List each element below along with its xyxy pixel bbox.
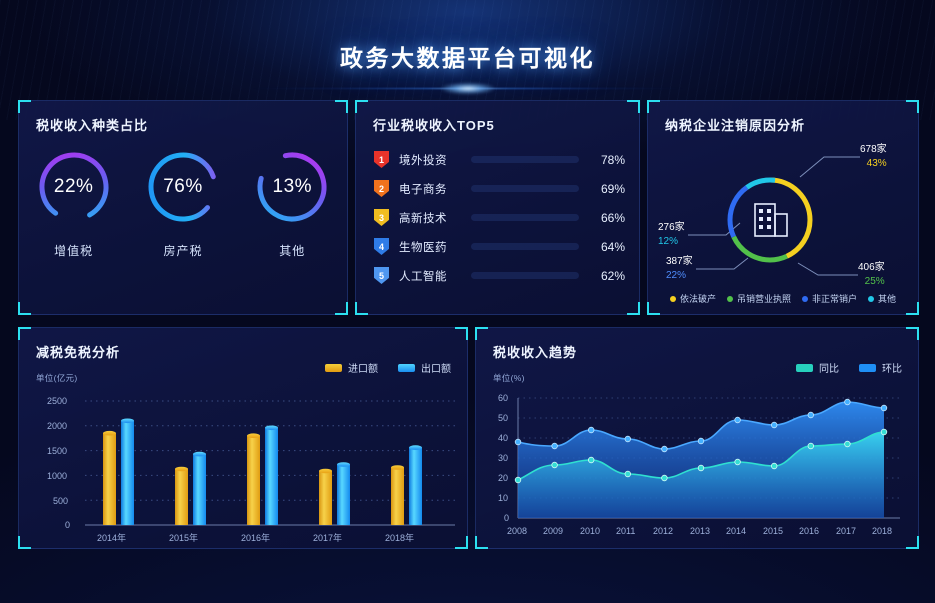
gauge-row: 22% 增值税 76% 房产税 xyxy=(19,149,347,259)
corner-bracket-tl xyxy=(355,100,368,113)
corner-bracket-tr xyxy=(335,100,348,113)
corner-bracket-tr xyxy=(627,100,640,113)
legend-dot-icon xyxy=(727,296,733,302)
page-title: 政务大数据平台可视化 xyxy=(340,39,595,73)
y-tick-label: 30 xyxy=(498,453,508,463)
y-tick-label: 0 xyxy=(65,520,70,530)
x-tick-label: 2010 xyxy=(580,526,600,536)
rank-bar-track xyxy=(471,272,579,279)
x-tick-label: 2015 xyxy=(763,526,783,536)
donut-callout-percent: 22% xyxy=(666,269,728,283)
rank-percent: 62% xyxy=(591,269,625,283)
rank-percent: 78% xyxy=(591,153,625,167)
donut-callout-percent: 12% xyxy=(658,235,720,249)
legend-dot-icon xyxy=(868,296,874,302)
y-tick-label: 2000 xyxy=(47,421,67,431)
x-tick-label: 2009 xyxy=(543,526,563,536)
y-tick-label: 20 xyxy=(498,473,508,483)
donut-callout-percent: 25% xyxy=(858,275,885,289)
gauge-item[interactable]: 76% 房产税 xyxy=(135,149,231,259)
legend-item[interactable]: 依法破产 xyxy=(670,292,716,305)
rank-bar-track xyxy=(471,156,579,163)
donut-callout-2: 406家 25% xyxy=(858,261,885,288)
donut-callout-count: 276家 xyxy=(658,222,685,233)
dashboard-header: 政务大数据平台可视化 xyxy=(0,0,935,96)
donut-legend: 依法破产 吊销营业执照 非正常销户 其他 xyxy=(648,292,918,305)
x-tick-label: 2008 xyxy=(507,526,527,536)
gauge-item[interactable]: 22% 增值税 xyxy=(26,149,122,259)
donut-callout-count: 678家 xyxy=(860,144,887,155)
gauge-value: 76% xyxy=(145,149,221,225)
gauge-label: 增值税 xyxy=(26,242,122,259)
gauge-ring: 13% xyxy=(254,149,330,225)
rank-percent: 66% xyxy=(591,211,625,225)
panel-title-tax-share: 税收收入种类占比 xyxy=(36,115,148,134)
gauge-value: 13% xyxy=(254,149,330,225)
x-tick-label: 2011 xyxy=(616,526,635,536)
x-tick-label: 2012 xyxy=(653,526,673,536)
gauge-label: 其他 xyxy=(244,242,340,259)
rank-badge-icon: 1 xyxy=(374,151,389,168)
corner-bracket-bl xyxy=(355,302,368,315)
gauge-ring: 22% xyxy=(36,149,112,225)
x-tick-label: 2015年 xyxy=(169,531,198,544)
rank-badge-icon: 5 xyxy=(374,267,389,284)
building-icon xyxy=(755,204,787,236)
gauge-value: 22% xyxy=(36,149,112,225)
corner-bracket-bl xyxy=(18,302,31,315)
donut-callout-count: 406家 xyxy=(858,262,885,273)
rank-name: 生物医药 xyxy=(399,239,467,255)
corner-bracket-br xyxy=(335,302,348,315)
legend-dot-icon xyxy=(670,296,676,302)
gauge-label: 房产税 xyxy=(135,242,231,259)
rank-percent: 64% xyxy=(591,240,625,254)
donut-chart: 678家 43% 276家 12% 387家 22% 406家 25% 依法破产… xyxy=(648,101,918,314)
legend-label: 吊销营业执照 xyxy=(737,292,791,305)
legend-label: 其他 xyxy=(878,292,896,305)
list-item[interactable]: 2 电子商务 69% xyxy=(374,174,625,203)
panel-trend: 税收收入趋势 单位(%) 同比 环比 xyxy=(475,327,919,549)
rank-bar-track xyxy=(471,185,579,192)
gauge-ring: 76% xyxy=(145,149,221,225)
rank-name: 电子商务 xyxy=(399,181,467,197)
y-tick-label: 1000 xyxy=(47,471,67,481)
rank-name: 高新技术 xyxy=(399,210,467,226)
gauge-item[interactable]: 13% 其他 xyxy=(244,149,340,259)
x-tick-label: 2016 xyxy=(799,526,819,536)
x-tick-label: 2018 xyxy=(872,526,892,536)
corner-bracket-br xyxy=(627,302,640,315)
legend-item[interactable]: 非正常销户 xyxy=(802,292,857,305)
x-tick-label: 2016年 xyxy=(241,531,270,544)
rank-percent: 69% xyxy=(591,182,625,196)
donut-callout-4: 276家 12% xyxy=(658,221,720,248)
y-tick-label: 500 xyxy=(53,496,68,506)
rank-bar-track xyxy=(471,214,579,221)
panel-cancel-reason: 纳税企业注销原因分析 xyxy=(647,100,919,315)
list-item[interactable]: 1 境外投资 78% xyxy=(374,145,625,174)
trend-chart-plot xyxy=(476,328,920,550)
panel-title-industry: 行业税收收入TOP5 xyxy=(373,115,495,134)
list-item[interactable]: 3 高新技术 66% xyxy=(374,203,625,232)
rank-badge-icon: 2 xyxy=(374,180,389,197)
legend-dot-icon xyxy=(802,296,808,302)
x-tick-label: 2014 xyxy=(726,526,746,536)
x-tick-label: 2017年 xyxy=(313,531,342,544)
y-tick-label: 2500 xyxy=(47,396,67,406)
rank-bar-track xyxy=(471,243,579,250)
panel-industry-top5: 行业税收收入TOP5 1 境外投资 78% 2 电子商务 69% 3 高新技术 … xyxy=(355,100,640,315)
ranking-list: 1 境外投资 78% 2 电子商务 69% 3 高新技术 66% 4 生物医药 … xyxy=(374,145,625,290)
donut-callout-1: 678家 43% xyxy=(860,143,887,170)
legend-item[interactable]: 其他 xyxy=(868,292,896,305)
rank-badge-icon: 4 xyxy=(374,238,389,255)
rank-badge-icon: 3 xyxy=(374,209,389,226)
bar-chart-plot xyxy=(19,328,469,550)
y-tick-label: 60 xyxy=(498,393,508,403)
rank-name: 境外投资 xyxy=(399,152,467,168)
y-tick-label: 10 xyxy=(498,493,508,503)
y-tick-label: 1500 xyxy=(47,446,67,456)
list-item[interactable]: 4 生物医药 64% xyxy=(374,232,625,261)
legend-label: 依法破产 xyxy=(680,292,716,305)
y-tick-label: 40 xyxy=(498,433,508,443)
rank-name: 人工智能 xyxy=(399,268,467,284)
donut-callout-count: 387家 xyxy=(666,256,693,267)
y-tick-label: 50 xyxy=(498,413,508,423)
panel-reduction-analysis: 减税免税分析 单位(亿元) 进口额 出口额 xyxy=(18,327,468,549)
panel-tax-share: 税收收入种类占比 22% 增值税 xyxy=(18,100,348,315)
corner-bracket-tl xyxy=(18,100,31,113)
donut-callout-percent: 43% xyxy=(860,157,887,171)
x-tick-label: 2014年 xyxy=(97,531,126,544)
x-tick-label: 2017 xyxy=(836,526,856,536)
legend-label: 非正常销户 xyxy=(812,292,857,305)
list-item[interactable]: 5 人工智能 62% xyxy=(374,261,625,290)
x-tick-label: 2018年 xyxy=(385,531,414,544)
legend-item[interactable]: 吊销营业执照 xyxy=(727,292,791,305)
y-tick-label: 0 xyxy=(504,513,509,523)
x-tick-label: 2013 xyxy=(690,526,710,536)
donut-callout-3: 387家 22% xyxy=(666,255,728,282)
